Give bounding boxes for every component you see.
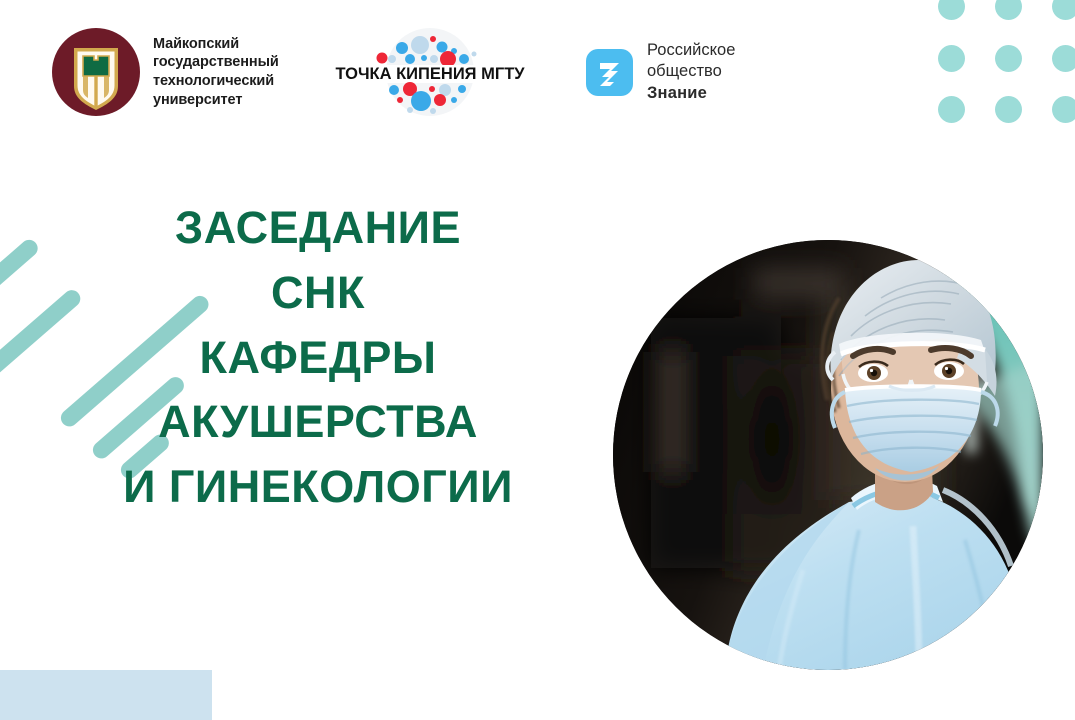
bottom-left-band — [0, 670, 212, 720]
logo-mgtu-line: государственный — [153, 53, 279, 72]
title-line: ЗАСЕДАНИЕ — [28, 196, 608, 261]
logo-znanie-text: Российское общество Знание — [647, 40, 735, 104]
logo-mgtu-line: технологический — [153, 72, 279, 91]
znanie-z-mark-icon — [586, 49, 633, 96]
logo-mgtu-text: Майкопский государственный технологическ… — [153, 35, 279, 109]
logo-znanie-line: Российское — [647, 40, 735, 61]
logo-tochka-kipeniya: ТОЧКА КИПЕНИЯ МГТУ — [332, 26, 528, 118]
doctor-portrait — [613, 240, 1043, 670]
logo-znanie-strong: Знание — [647, 83, 735, 104]
logo-znanie: Российское общество Знание — [586, 40, 735, 104]
logo-mgtu: Майкопский государственный технологическ… — [52, 28, 279, 116]
poster-canvas: Майкопский государственный технологическ… — [0, 0, 1075, 720]
logo-znanie-line: общество — [647, 61, 735, 82]
logo-mgtu-line: университет — [153, 91, 279, 110]
title-line: АКУШЕРСТВА — [28, 390, 608, 455]
title-line: КАФЕДРЫ — [28, 326, 608, 391]
logo-bar: Майкопский государственный технологическ… — [0, 0, 1075, 140]
title-line: СНК — [28, 261, 608, 326]
logo-tk-label: ТОЧКА КИПЕНИЯ МГТУ — [335, 65, 525, 83]
title-line: И ГИНЕКОЛОГИИ — [28, 455, 608, 520]
page-title: ЗАСЕДАНИЕ СНК КАФЕДРЫ АКУШЕРСТВА И ГИНЕК… — [28, 196, 608, 520]
doctor-portrait-image — [613, 240, 1043, 670]
logo-mgtu-line: Майкопский — [153, 35, 279, 54]
shield-book-emblem-icon — [52, 28, 140, 116]
